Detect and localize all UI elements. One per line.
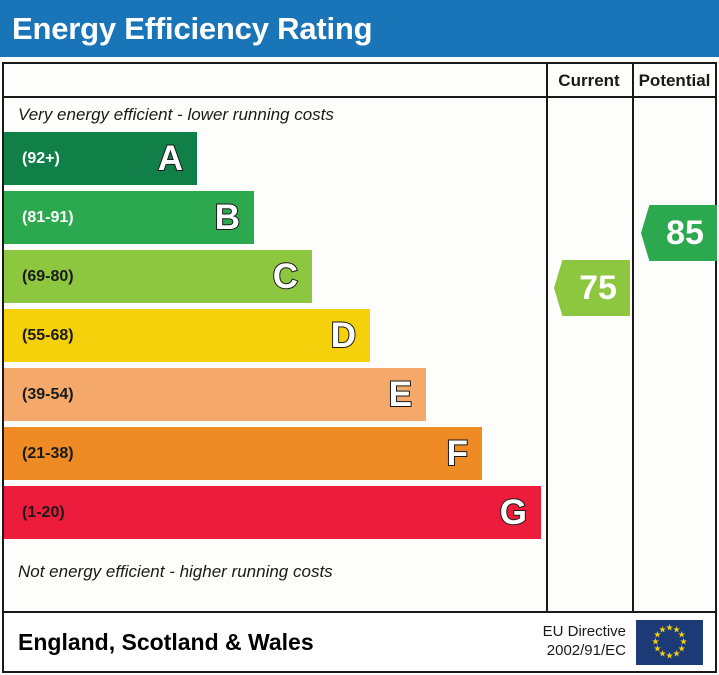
band-g: (1-20)G xyxy=(4,486,541,539)
caption-inefficient: Not energy efficient - higher running co… xyxy=(4,553,544,591)
energy-efficiency-certificate: Energy Efficiency Rating Current Potenti… xyxy=(0,0,719,675)
rating-table: Current Potential Very energy efficient … xyxy=(2,62,717,613)
eu-flag-icon: ★★★★★★★★★★★★ xyxy=(636,620,703,665)
rating-marker-current-value: 75 xyxy=(567,269,617,308)
band-range-label: (81-91) xyxy=(4,209,74,227)
rating-marker-potential-value: 85 xyxy=(654,214,704,253)
band-letter-label: B xyxy=(215,200,254,235)
column-divider-potential xyxy=(632,64,634,611)
band-letter-label: F xyxy=(447,436,482,471)
band-range-label: (55-68) xyxy=(4,327,74,345)
column-divider-current xyxy=(546,64,548,611)
band-range-label: (92+) xyxy=(4,150,60,168)
caption-efficient: Very energy efficient - lower running co… xyxy=(4,98,544,132)
eu-flag-star: ★ xyxy=(658,625,667,634)
directive-line-1: EU Directive xyxy=(543,623,626,642)
band-list: (92+)A(81-91)B(69-80)C(55-68)D(39-54)E(2… xyxy=(4,132,544,552)
band-letter-label: D xyxy=(331,318,370,353)
table-header-row: Current Potential xyxy=(4,64,715,98)
band-range-label: (69-80) xyxy=(4,268,74,286)
page-title: Energy Efficiency Rating xyxy=(0,11,372,47)
rating-marker-current: 75 xyxy=(554,260,630,316)
band-letter-label: G xyxy=(500,495,541,530)
band-range-label: (21-38) xyxy=(4,445,74,463)
band-range-label: (1-20) xyxy=(4,504,65,522)
band-letter-label: A xyxy=(158,141,197,176)
band-a: (92+)A xyxy=(4,132,197,185)
band-d: (55-68)D xyxy=(4,309,370,362)
band-letter-label: E xyxy=(389,377,426,412)
footer-directive: EU Directive 2002/91/EC xyxy=(543,623,636,661)
title-bar: Energy Efficiency Rating xyxy=(0,0,719,57)
band-range-label: (39-54) xyxy=(4,386,74,404)
band-f: (21-38)F xyxy=(4,427,482,480)
column-header-potential: Potential xyxy=(632,64,717,98)
footer-region-label: England, Scotland & Wales xyxy=(4,629,543,656)
band-letter-label: C xyxy=(273,259,312,294)
directive-line-2: 2002/91/EC xyxy=(543,642,626,661)
rating-marker-potential: 85 xyxy=(641,205,717,261)
band-b: (81-91)B xyxy=(4,191,254,244)
band-e: (39-54)E xyxy=(4,368,426,421)
band-c: (69-80)C xyxy=(4,250,312,303)
footer: England, Scotland & Wales EU Directive 2… xyxy=(2,613,717,673)
column-header-current: Current xyxy=(546,64,632,98)
